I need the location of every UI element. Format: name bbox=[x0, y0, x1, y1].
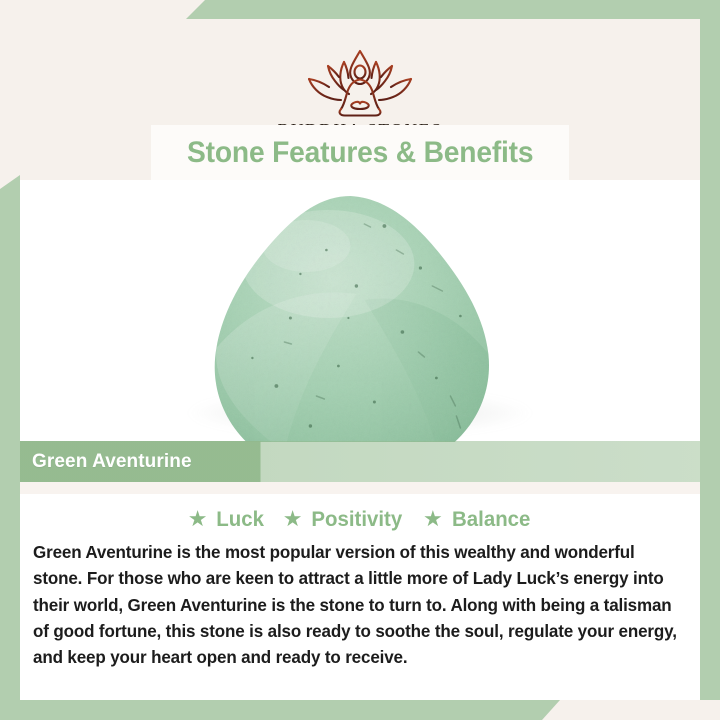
star-icon: ★ bbox=[188, 508, 208, 530]
green-aventurine-stone-photo bbox=[188, 190, 518, 442]
star-icon: ★ bbox=[423, 508, 443, 530]
separator-strip bbox=[20, 482, 700, 494]
keyword-label: Luck bbox=[216, 507, 264, 532]
stone-name-band: Green Aventurine bbox=[20, 441, 700, 482]
frame-bottom-accent bbox=[0, 700, 560, 720]
page-title: Stone Features & Benefits bbox=[187, 136, 533, 170]
keyword-label: Balance bbox=[452, 507, 530, 532]
lotus-meditation-icon bbox=[292, 44, 428, 118]
title-banner: Stone Features & Benefits bbox=[151, 125, 569, 180]
star-icon: ★ bbox=[283, 508, 303, 530]
keyword-balance: ★ Balance bbox=[423, 507, 532, 532]
keyword-label: Positivity bbox=[312, 507, 403, 532]
stone-description: Green Aventurine is the most popular ver… bbox=[33, 539, 677, 670]
benefits-section: ★ Luck ★ Positivity ★ Balance Green Aven… bbox=[20, 494, 700, 700]
frame-right-accent bbox=[700, 0, 720, 700]
infographic-page: BUDDHA STONES Stone Features & Benefits bbox=[0, 0, 720, 720]
frame-top-accent bbox=[186, 0, 720, 19]
hero-image bbox=[20, 180, 700, 442]
header: BUDDHA STONES Stone Features & Benefits bbox=[20, 42, 700, 180]
stone-name-label: Green Aventurine bbox=[20, 451, 192, 473]
frame-left-accent bbox=[0, 175, 20, 700]
keyword-positivity: ★ Positivity bbox=[283, 507, 405, 532]
content-card: BUDDHA STONES Stone Features & Benefits bbox=[20, 42, 700, 700]
keyword-row: ★ Luck ★ Positivity ★ Balance bbox=[20, 494, 700, 532]
keyword-luck: ★ Luck bbox=[188, 507, 265, 532]
